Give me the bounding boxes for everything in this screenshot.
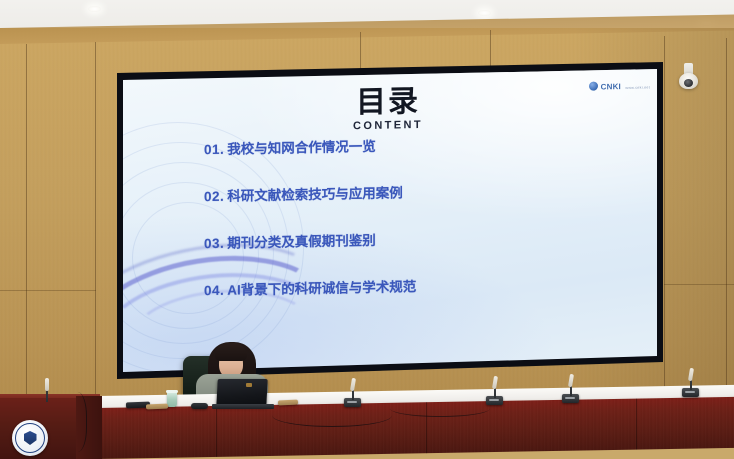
panel-seam (664, 284, 734, 285)
cable (64, 392, 87, 452)
slide-toc-list: 01.我校与知网合作情况一览 02.科研文献检索技巧与应用案例 03.期刊分类及… (204, 134, 624, 330)
projection-screen: 目录 CONTENT CNKI www.cnki.net 01.我校与知网合作情… (112, 62, 664, 380)
downlight (478, 10, 491, 16)
cnki-globe-icon (589, 81, 598, 90)
toc-item-number: 04. (204, 283, 224, 298)
presenter-hair-front (215, 343, 247, 361)
camera-lens-icon (684, 79, 693, 87)
laptop-logo-icon (246, 383, 252, 387)
slide-content: 目录 CONTENT CNKI www.cnki.net 01.我校与知网合作情… (112, 62, 664, 380)
panel-seam (26, 44, 27, 448)
desk-seam (636, 399, 637, 450)
mic-head (45, 378, 49, 391)
toc-item: 02.科研文献检索技巧与应用案例 (204, 181, 624, 205)
desk-nameplate (146, 404, 168, 410)
downlight (88, 6, 101, 12)
laptop-keyboard-base (212, 404, 274, 409)
panel-seam (95, 42, 96, 448)
panel-seam (490, 30, 491, 66)
toc-item-number: 02. (204, 189, 224, 204)
toc-item-label: 科研文献检索技巧与应用案例 (227, 185, 403, 203)
conference-room-scene: 目录 CONTENT CNKI www.cnki.net 01.我校与知网合作情… (0, 0, 734, 459)
toc-item-number: 03. (204, 236, 224, 251)
toc-item: 04.AI背景下的科研诚信与学术规范 (204, 275, 624, 299)
laptop-screen (216, 379, 267, 407)
cnki-url: www.cnki.net (625, 85, 650, 89)
panel-seam (664, 36, 665, 436)
toc-item-label: AI背景下的科研诚信与学术规范 (227, 279, 416, 298)
cnki-wordmark: CNKI (601, 82, 621, 91)
desk-seam (216, 406, 217, 457)
toc-item-label: 期刊分类及真假期刊鉴别 (227, 233, 376, 251)
cable (390, 400, 490, 417)
toc-item: 03.期刊分类及真假期刊鉴别 (204, 228, 624, 252)
toc-item-number: 01. (204, 142, 224, 157)
cnki-logo: CNKI www.cnki.net (589, 75, 650, 94)
panel-seam (0, 290, 96, 291)
panel-seam (726, 38, 727, 436)
university-seal-icon (12, 420, 48, 456)
coffee-cup-lid (166, 390, 178, 393)
desk-object (191, 403, 208, 409)
coffee-cup (167, 392, 177, 407)
cable (272, 404, 392, 427)
slide-title: 目录 CONTENT (112, 81, 664, 138)
presentation-slide: 目录 CONTENT CNKI www.cnki.net 01.我校与知网合作情… (112, 62, 664, 380)
toc-item: 01.我校与知网合作情况一览 (204, 134, 624, 158)
toc-item-label: 我校与知网合作情况一览 (227, 139, 376, 157)
